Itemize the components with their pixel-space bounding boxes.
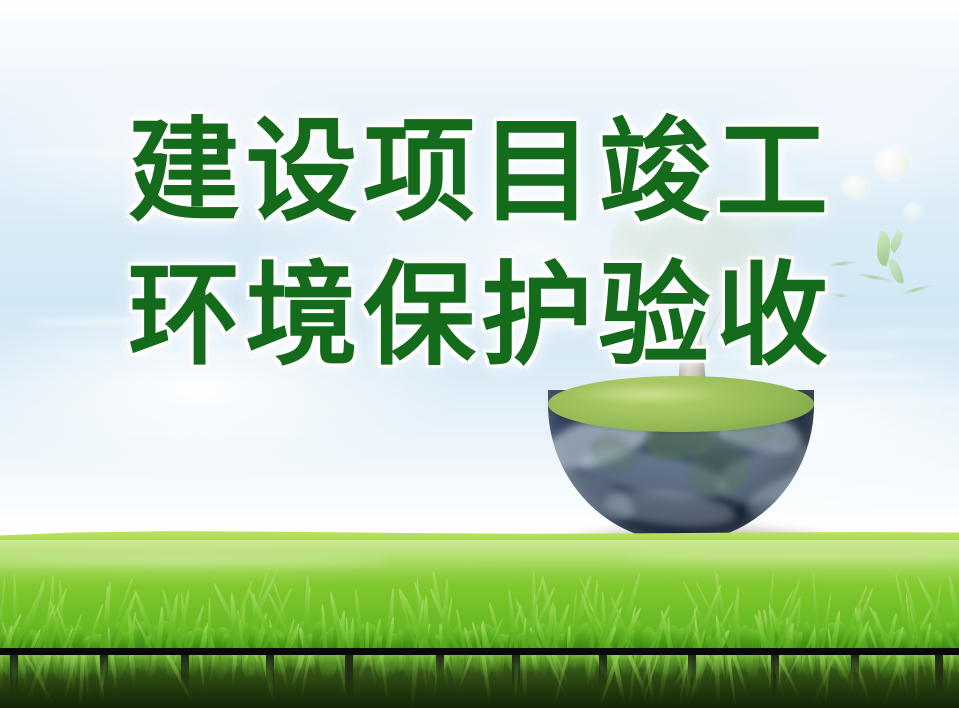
reflected-post <box>266 655 274 688</box>
grass-blade <box>553 605 557 654</box>
waterline <box>0 648 959 655</box>
reflected-post <box>599 655 607 687</box>
water-reflection <box>0 655 959 708</box>
cloud-streak <box>120 430 310 437</box>
sky-background <box>0 0 959 545</box>
cloud-streak <box>24 318 234 325</box>
reflected-post <box>688 655 696 685</box>
cloud-streak <box>300 268 460 275</box>
cloud-streak <box>700 352 900 359</box>
earth-hemisphere <box>548 376 814 544</box>
earth-grass-top <box>548 376 814 432</box>
reflected-post <box>851 655 859 682</box>
reflected-post <box>436 655 444 682</box>
grass-blade <box>423 595 429 654</box>
cloud-streak <box>820 330 959 337</box>
cloud-streak <box>60 352 300 359</box>
cloud-streak <box>10 150 140 157</box>
reflected-post <box>771 655 779 697</box>
cloud-streak <box>520 322 740 329</box>
reflected-post <box>100 655 108 683</box>
reflected-post <box>181 655 189 691</box>
cloud-streak <box>160 332 310 339</box>
reflected-post <box>512 655 520 689</box>
reflected-post <box>935 655 943 693</box>
reflected-post <box>345 655 353 697</box>
cloud-streak <box>90 196 260 203</box>
grass-blade-layer <box>0 560 959 654</box>
title-slide: 建设项目竣工 环境保护验收 <box>0 0 959 708</box>
grass-blade <box>208 598 211 654</box>
cloud-streak <box>430 300 610 307</box>
reflected-post <box>10 655 18 693</box>
